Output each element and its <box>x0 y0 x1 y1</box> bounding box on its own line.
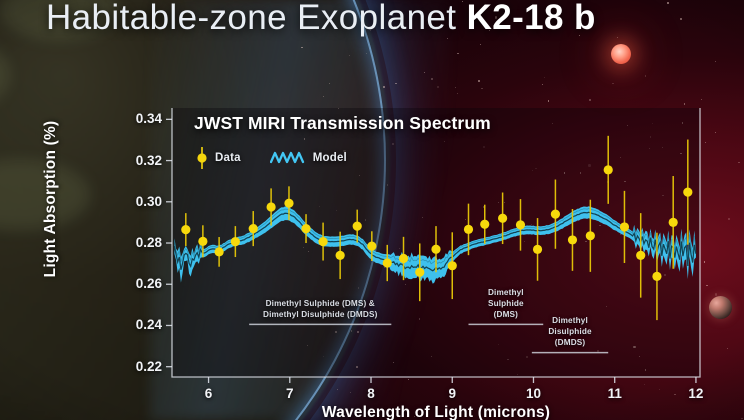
annotation-line: Sulphide <box>440 299 572 310</box>
annotation-dms-dmds: Dimethyl Sulphide (DMS) &Dimethyl Disulp… <box>254 299 386 321</box>
annotation-line: Dimethyl Sulphide (DMS) & <box>254 299 386 310</box>
annotation-line: Dimethyl <box>440 288 572 299</box>
legend-data-marker-icon <box>196 146 208 170</box>
y-tick-label: 0.34 <box>116 111 162 126</box>
annotation-line: Disulphide <box>504 327 636 338</box>
x-tick-label: 8 <box>356 386 386 401</box>
plot-svg <box>0 0 744 420</box>
y-tick-label: 0.32 <box>116 153 162 168</box>
x-tick-label: 7 <box>275 386 305 401</box>
chart-title: JWST MIRI Transmission Spectrum <box>194 113 491 134</box>
annotation-dmds: DimethylDisulphide(DMDS) <box>504 316 636 348</box>
chart-legend: Data Model <box>196 146 347 170</box>
x-tick-label: 10 <box>518 386 548 401</box>
x-tick-label: 6 <box>194 386 224 401</box>
screenshot-stage: Habitable-zone Exoplanet K2-18 b 0.220.2… <box>0 0 744 420</box>
transmission-spectrum-chart: 0.220.240.260.280.300.320.346789101112 D… <box>0 0 744 420</box>
x-tick-label: 12 <box>681 386 711 401</box>
y-tick-label: 0.22 <box>116 359 162 374</box>
y-tick-label: 0.24 <box>116 317 162 332</box>
annotation-line: Dimethyl <box>504 316 636 327</box>
y-tick-label: 0.26 <box>116 276 162 291</box>
x-axis-title: Wavelength of Light (microns) <box>172 404 700 420</box>
y-axis-title: Light Absorption (%) <box>42 84 60 314</box>
x-tick-label: 11 <box>600 386 630 401</box>
x-tick-label: 9 <box>437 386 467 401</box>
y-tick-label: 0.30 <box>116 194 162 209</box>
y-tick-label: 0.28 <box>116 235 162 250</box>
annotation-line: Dimethyl Disulphide (DMDS) <box>254 310 386 321</box>
annotation-line: (DMDS) <box>504 338 636 349</box>
legend-label-data: Data <box>215 152 241 164</box>
legend-model-line-icon <box>270 150 306 166</box>
legend-label-model: Model <box>313 152 347 164</box>
